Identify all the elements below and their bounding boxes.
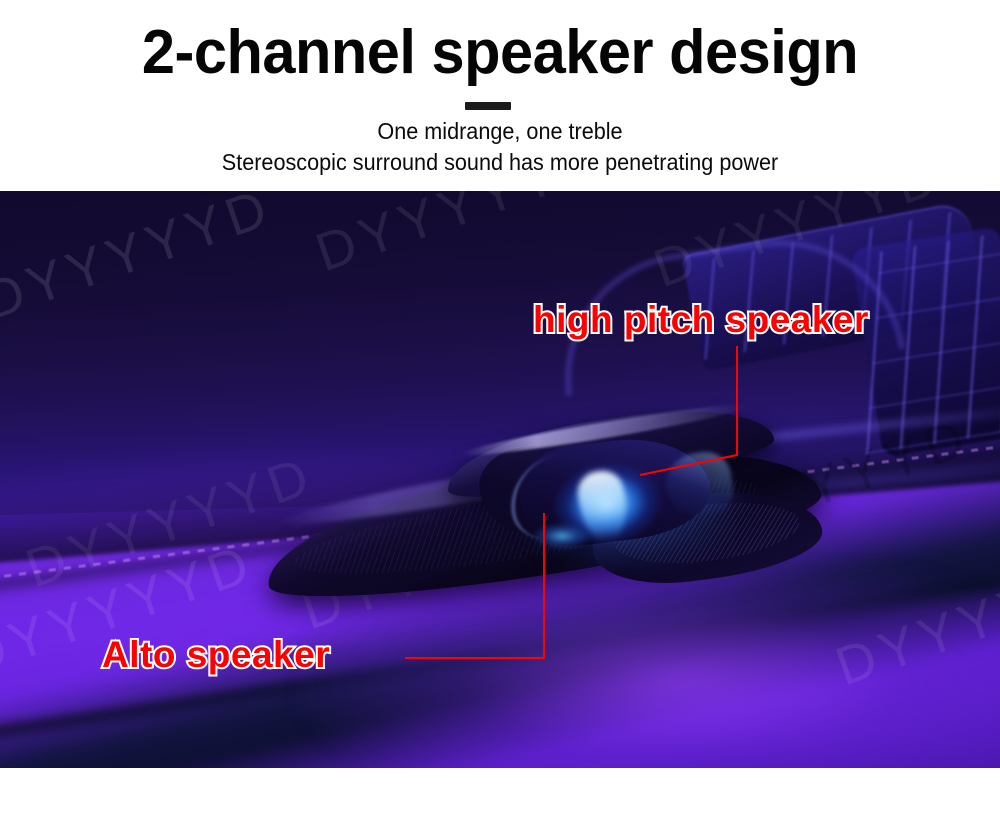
- callout-label-high-pitch-speaker: high pitch speaker: [533, 299, 869, 341]
- page-title: 2-channel speaker design: [20, 20, 980, 86]
- speaker-base-led-spot: [532, 523, 592, 549]
- header-text-block: 2-channel speaker design One midrange, o…: [0, 0, 1000, 191]
- car-tweeter-speaker-device: [262, 419, 842, 599]
- subtitle-line-2: Stereoscopic surround sound has more pen…: [30, 149, 970, 175]
- title-divider: [465, 102, 511, 110]
- product-photo: DYYYYYD DYYYYYD DYYYYYD DYYYYYD DYYYYYD …: [0, 191, 1000, 768]
- footer-whitespace: [0, 768, 1000, 814]
- callout-label-alto-speaker: Alto speaker: [102, 634, 330, 676]
- subtitle-line-1: One midrange, one treble: [30, 118, 970, 144]
- product-feature-banner: 2-channel speaker design One midrange, o…: [0, 0, 1000, 814]
- ambient-light-glow: [300, 571, 1000, 768]
